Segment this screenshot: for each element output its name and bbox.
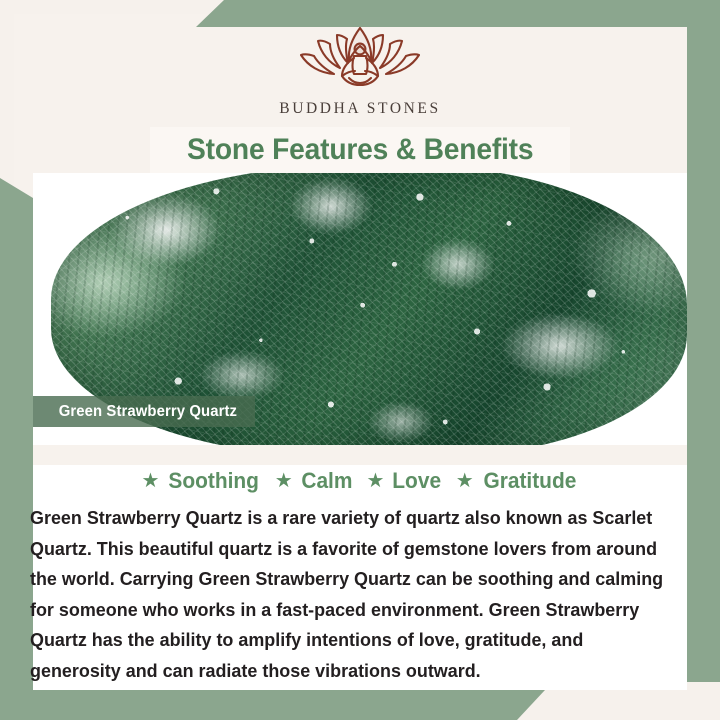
brand-name: BUDDHA STONES: [0, 100, 720, 118]
photo-caption-bar: Green Strawberry Quartz: [33, 396, 255, 427]
page-title: Stone Features & Benefits: [187, 133, 533, 167]
benefit-label: Gratitude: [483, 468, 576, 494]
bottom-green-banner: [0, 690, 545, 720]
benefit-item-soothing: ★ Soothing: [141, 468, 261, 494]
photo-caption-label: Green Strawberry Quartz: [59, 403, 237, 421]
benefit-item-calm: ★ Calm: [275, 468, 354, 494]
benefit-label: Soothing: [169, 468, 260, 494]
title-banner: Stone Features & Benefits: [150, 127, 570, 173]
infographic-card: BUDDHA STONES Stone Features & Benefits …: [0, 0, 720, 720]
benefit-label: Calm: [301, 468, 352, 494]
benefit-label: Love: [393, 468, 442, 494]
lotus-meditation-figure-icon: [285, 22, 435, 96]
benefits-row: ★ Soothing ★ Calm ★ Love ★ Gratitude: [0, 468, 720, 494]
benefit-item-love: ★ Love: [366, 468, 442, 494]
star-icon: ★: [141, 471, 159, 491]
right-green-strip: [687, 27, 720, 682]
benefit-item-gratitude: ★ Gratitude: [456, 468, 579, 494]
left-green-strip: [0, 178, 33, 690]
star-icon: ★: [366, 471, 384, 491]
stone-description-text: Green Strawberry Quartz is a rare variet…: [30, 503, 677, 686]
stone-photo: Green Strawberry Quartz: [33, 173, 687, 445]
panel-top-spacer: [33, 445, 687, 465]
star-icon: ★: [275, 471, 293, 491]
brand-logo-block: BUDDHA STONES: [0, 22, 720, 118]
star-icon: ★: [456, 471, 474, 491]
